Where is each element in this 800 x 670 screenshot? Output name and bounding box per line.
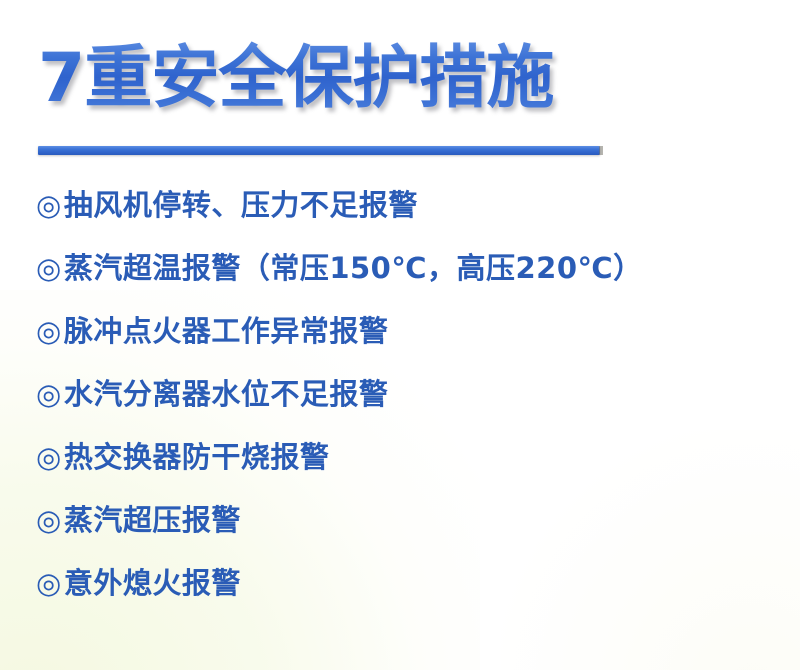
headline-container: 7重安全保护措施: [38, 40, 738, 118]
list-item-label: 蒸汽超压报警: [64, 497, 241, 539]
fisheye-bullet-icon: ◎: [36, 569, 62, 598]
list-item-label: 抽风机停转、压力不足报警: [64, 182, 418, 224]
fisheye-bullet-icon: ◎: [36, 317, 62, 346]
list-item: ◎ 抽风机停转、压力不足报警: [36, 182, 776, 245]
fisheye-bullet-icon: ◎: [36, 191, 62, 220]
safety-feature-list: ◎ 抽风机停转、压力不足报警 ◎ 蒸汽超温报警（常压150℃，高压220℃） ◎…: [36, 182, 776, 623]
list-item-label: 蒸汽超温报警（常压150℃，高压220℃）: [64, 245, 643, 287]
list-item: ◎ 蒸汽超温报警（常压150℃，高压220℃）: [36, 245, 776, 308]
list-item: ◎ 意外熄火报警: [36, 560, 776, 623]
page-title: 7重安全保护措施: [38, 40, 738, 118]
list-item-label: 脉冲点火器工作异常报警: [64, 308, 389, 350]
list-item-label: 热交换器防干烧报警: [64, 434, 330, 476]
list-item: ◎ 蒸汽超压报警: [36, 497, 776, 560]
fisheye-bullet-icon: ◎: [36, 380, 62, 409]
list-item: ◎ 脉冲点火器工作异常报警: [36, 308, 776, 371]
infographic-page: 7重安全保护措施 ◎ 抽风机停转、压力不足报警 ◎ 蒸汽超温报警（常压150℃，…: [0, 0, 800, 670]
list-item: ◎ 水汽分离器水位不足报警: [36, 371, 776, 434]
fisheye-bullet-icon: ◎: [36, 506, 62, 535]
fisheye-bullet-icon: ◎: [36, 443, 62, 472]
list-item: ◎ 热交换器防干烧报警: [36, 434, 776, 497]
list-item-label: 水汽分离器水位不足报警: [64, 371, 389, 413]
title-divider: [38, 146, 600, 155]
fisheye-bullet-icon: ◎: [36, 254, 62, 283]
page-content: 7重安全保护措施 ◎ 抽风机停转、压力不足报警 ◎ 蒸汽超温报警（常压150℃，…: [0, 0, 800, 670]
list-item-label: 意外熄火报警: [64, 560, 241, 602]
